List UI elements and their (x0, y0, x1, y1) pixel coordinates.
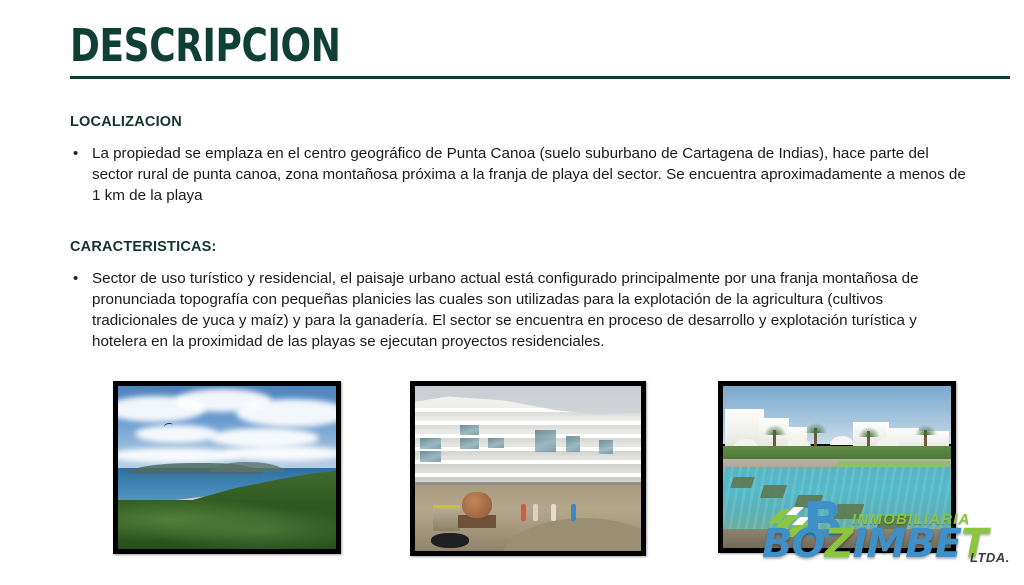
bullet-marker-icon: • (70, 143, 92, 164)
material-crate (433, 505, 460, 531)
pool-wall (723, 529, 951, 548)
palm-tree (764, 425, 786, 435)
page-title: DESCRIPCION (70, 22, 340, 70)
title-divider (70, 76, 1010, 79)
bullet-text-caracteristicas: Sector de uso turístico y residencial, e… (92, 268, 937, 352)
cloud (223, 446, 336, 461)
bullet-item: • La propiedad se emplaza en el centro g… (70, 143, 970, 206)
bullet-item: • Sector de uso turístico y residencial,… (70, 268, 970, 352)
palm-tree (915, 425, 937, 435)
pool-ledge (832, 504, 864, 519)
watermark-brand-t: T (961, 521, 987, 567)
cloud (210, 428, 319, 448)
section-localizacion: LOCALIZACION • La propiedad se emplaza e… (70, 113, 970, 206)
photo-coastal-landscape-image (118, 386, 336, 549)
vegetation-foreground (118, 500, 336, 549)
photo-building-under-construction (410, 381, 646, 556)
photo-building-under-construction-image (415, 386, 641, 551)
section-caracteristicas: CARACTERISTICAS: • Sector de uso turísti… (70, 238, 970, 352)
slide: DESCRIPCION LOCALIZACION • La propiedad … (0, 0, 1024, 585)
section-heading-caracteristicas: CARACTERISTICAS: (70, 238, 970, 256)
palm-tree (805, 423, 827, 433)
bullet-marker-icon: • (70, 268, 92, 289)
section-heading-localizacion: LOCALIZACION (70, 113, 970, 131)
worker (551, 504, 556, 521)
cloud (118, 448, 240, 463)
palm-tree (858, 427, 880, 437)
pool-ledge (794, 495, 823, 508)
watermark-suffix: LTDA. (970, 550, 1010, 565)
debris-bag (431, 533, 469, 548)
cement-mixer (462, 492, 491, 518)
bullet-text-localizacion: La propiedad se emplaza en el centro geo… (92, 143, 970, 206)
worker (533, 504, 538, 521)
photo-resort-pool (718, 381, 956, 553)
cloud (236, 399, 336, 427)
cloud (135, 425, 218, 443)
worker (521, 504, 526, 521)
photo-resort-pool-image (723, 386, 951, 548)
pool-ledge (760, 485, 787, 498)
photo-coastal-landscape (113, 381, 341, 554)
worker (571, 504, 576, 521)
pool-ledge (730, 477, 754, 488)
